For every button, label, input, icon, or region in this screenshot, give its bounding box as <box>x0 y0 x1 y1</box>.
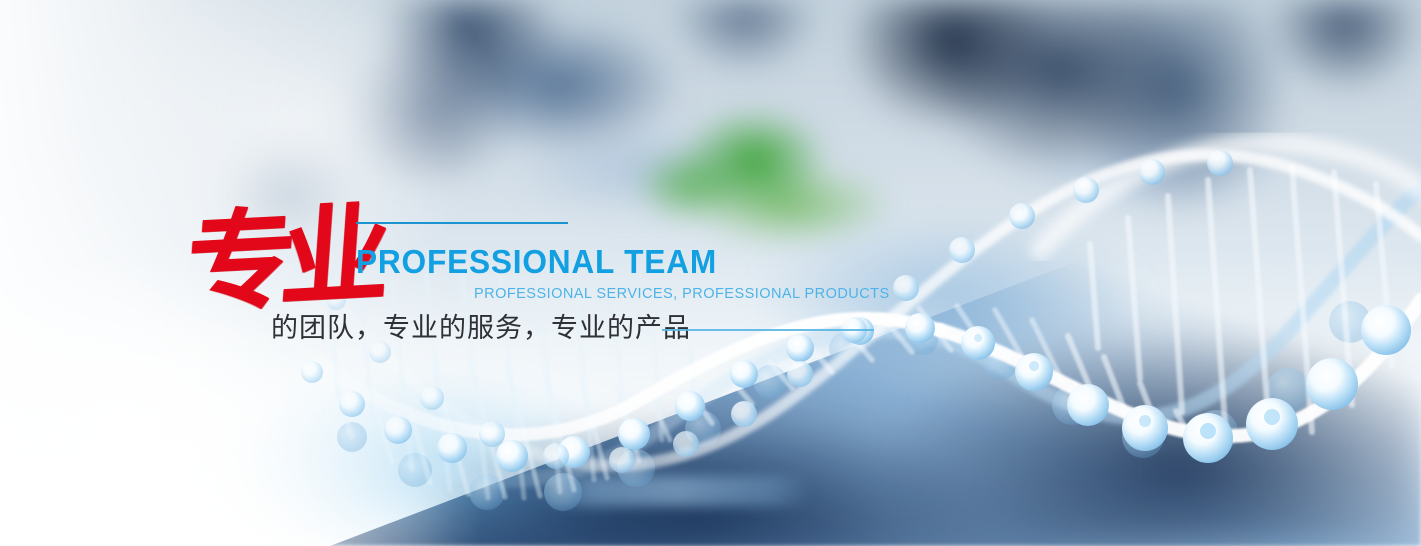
divider-line-top <box>356 222 568 224</box>
banner-chinese-tagline: 的团队，专业的服务，专业的产品 <box>271 306 691 345</box>
divider-line-bottom <box>662 329 874 331</box>
banner-text-block: 专业 PROFESSIONAL TEAM PROFESSIONAL SERVIC… <box>0 0 1421 546</box>
banner-headline: PROFESSIONAL TEAM <box>356 243 717 281</box>
hero-banner: 专业 PROFESSIONAL TEAM PROFESSIONAL SERVIC… <box>0 0 1421 546</box>
banner-subheadline: PROFESSIONAL SERVICES, PROFESSIONAL PROD… <box>474 285 890 302</box>
